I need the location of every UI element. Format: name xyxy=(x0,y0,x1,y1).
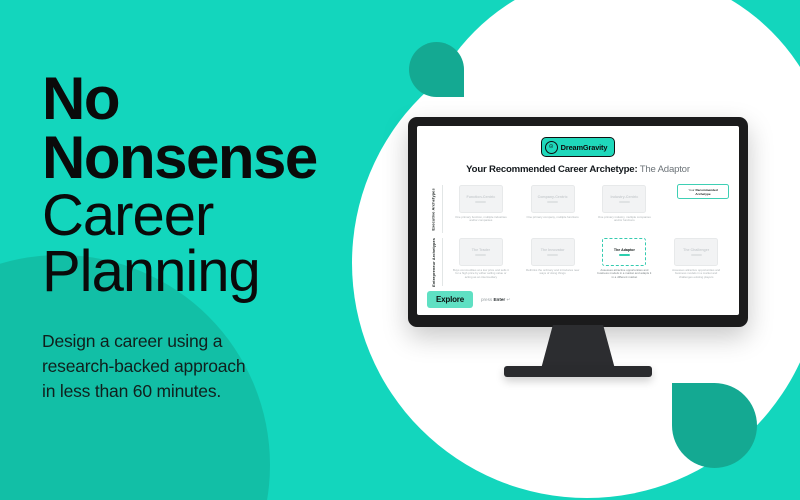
app-footer: Explore press Enter ↵ xyxy=(427,291,729,308)
row-label-entrepreneur-text: Entrepreneur Archetypes xyxy=(432,238,437,287)
archetype-card[interactable]: Industry-Centric xyxy=(602,185,646,213)
brand-mark-icon: ☉ xyxy=(545,141,558,154)
monitor-base xyxy=(504,366,652,377)
archetype-card-name: Function-Centric xyxy=(467,195,496,199)
subtitle-line-2: research-backed approach xyxy=(42,354,372,379)
teardrop-shape-bottom xyxy=(672,383,757,468)
archetype-card-bar xyxy=(475,254,486,256)
subtitle-line-1: Design a career using a xyxy=(42,329,372,354)
keyboard-hint: press Enter ↵ xyxy=(481,297,510,303)
legend-line-2: Recommended Archetype xyxy=(695,188,717,196)
monitor-screen: ☉ DreamGravity Your Recommended Career A… xyxy=(417,126,739,315)
archetype-cell[interactable]: Company-Centric One primary company, mul… xyxy=(520,185,586,223)
archetype-cell[interactable]: The Challenger Assesses attractive oppor… xyxy=(663,238,729,280)
archetype-card-selected[interactable]: The Adaptor xyxy=(602,238,646,266)
row-divider xyxy=(442,185,443,233)
matrix-row-entrepreneur: Entrepreneur Archetypes The Trader Buys … xyxy=(427,238,729,286)
teardrop-shape-top xyxy=(409,42,464,97)
archetype-card-bar xyxy=(619,254,630,256)
archetype-card-name: The Adaptor xyxy=(614,248,635,252)
archetype-matrix: Your Recommended Archetype Executive Arc… xyxy=(427,185,729,286)
archetype-cell[interactable]: Industry-Centric One primary industry, m… xyxy=(592,185,658,223)
monitor-neck xyxy=(541,325,615,369)
headline-line-3: Career xyxy=(42,188,372,245)
archetype-caption: Assesses attractive opportunities and bu… xyxy=(596,269,652,281)
archetype-cell[interactable]: The Innovator Rethinks the ordinary and … xyxy=(520,238,586,280)
brand-logo[interactable]: ☉ DreamGravity xyxy=(541,137,616,157)
archetype-card[interactable]: Company-Centric xyxy=(531,185,575,213)
hint-prefix: press xyxy=(481,297,494,302)
headline-line-1: No xyxy=(42,70,372,129)
subtitle-line-3: in less than 60 minutes. xyxy=(42,379,372,404)
brand-name: DreamGravity xyxy=(561,143,608,152)
archetype-card[interactable]: The Innovator xyxy=(531,238,575,266)
archetype-card-bar xyxy=(691,254,702,256)
poster-canvas: No Nonsense Career Planning Design a car… xyxy=(0,0,800,500)
archetype-caption: Buys commodities at a low price and sell… xyxy=(453,269,509,281)
page-title-bold: Your Recommended Career Archetype: xyxy=(466,164,637,175)
archetype-cell[interactable]: The Trader Buys commodities at a low pri… xyxy=(448,238,514,280)
headline-line-2: Nonsense xyxy=(42,129,372,188)
archetype-caption: Rethinks the ordinary and introduces new… xyxy=(525,269,581,277)
hint-key: Enter xyxy=(493,297,505,302)
hero-subtitle: Design a career using a research-backed … xyxy=(42,329,372,404)
archetype-caption: Assesses attractive opportunities and bu… xyxy=(668,269,724,281)
archetype-card[interactable]: The Trader xyxy=(459,238,503,266)
archetype-card-name: Company-Centric xyxy=(538,195,568,199)
hint-suffix: ↵ xyxy=(505,297,510,302)
archetype-caption: One primary company, multiple functions xyxy=(527,216,579,220)
hero-headline: No Nonsense Career Planning xyxy=(42,70,372,301)
legend-badge: Your Recommended Archetype xyxy=(677,184,729,199)
page-title-light: The Adaptor xyxy=(637,164,689,175)
archetype-caption: One primary industry, multiple companies… xyxy=(596,216,652,224)
archetype-card-name: Industry-Centric xyxy=(610,195,638,199)
row-label-executive: Executive Archetypes xyxy=(427,185,442,233)
app-logo-row: ☉ DreamGravity xyxy=(427,137,729,157)
hero-copy: No Nonsense Career Planning Design a car… xyxy=(42,70,372,404)
archetype-cell[interactable]: Function-Centric One primary function, m… xyxy=(448,185,514,223)
row-label-executive-text: Executive Archetypes xyxy=(432,188,437,230)
archetype-card-bar xyxy=(547,201,558,203)
app-page-title: Your Recommended Career Archetype: The A… xyxy=(427,164,729,175)
archetype-card[interactable]: Function-Centric xyxy=(459,185,503,213)
row-label-entrepreneur: Entrepreneur Archetypes xyxy=(427,238,442,286)
archetype-card-bar xyxy=(547,254,558,256)
explore-button[interactable]: Explore xyxy=(427,291,473,308)
row-divider xyxy=(442,238,443,286)
archetype-card[interactable]: The Challenger xyxy=(674,238,718,266)
archetype-card-name: The Challenger xyxy=(683,248,709,252)
archetype-card-bar xyxy=(475,201,486,203)
archetype-card-bar xyxy=(619,201,630,203)
legend-line-1: Your xyxy=(688,188,694,192)
row-cards-entrepreneur: The Trader Buys commodities at a low pri… xyxy=(448,238,729,280)
monitor-mockup: ☉ DreamGravity Your Recommended Career A… xyxy=(408,117,748,327)
headline-line-4: Planning xyxy=(42,244,372,301)
app-viewport: ☉ DreamGravity Your Recommended Career A… xyxy=(417,126,739,315)
archetype-card-name: The Innovator xyxy=(541,248,565,252)
archetype-cell-selected[interactable]: The Adaptor Assesses attractive opportun… xyxy=(592,238,658,280)
archetype-caption: One primary function, multiple industrie… xyxy=(453,216,509,224)
archetype-card-name: The Trader xyxy=(472,248,490,252)
